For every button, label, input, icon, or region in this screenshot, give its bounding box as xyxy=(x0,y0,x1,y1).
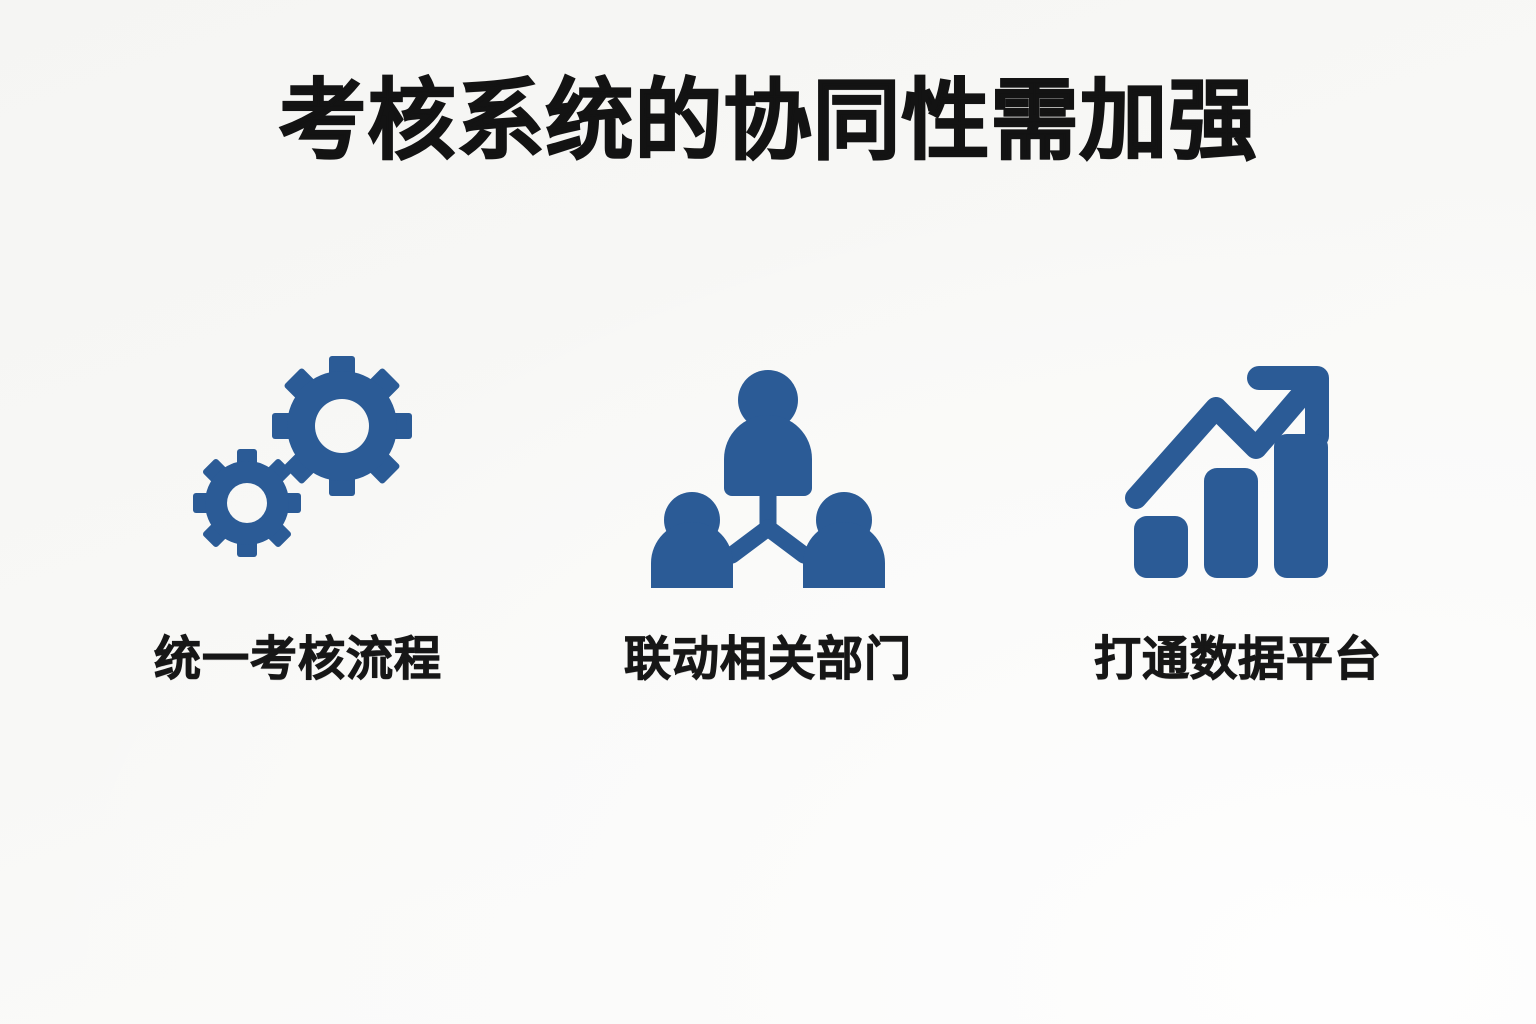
feature-label-department-linkage: 联动相关部门 xyxy=(624,634,912,686)
bar-2 xyxy=(1204,468,1258,578)
people-network-icon xyxy=(648,348,888,588)
slide-canvas: 考核系统的协同性需加强 xyxy=(0,0,1536,1024)
title-container: 考核系统的协同性需加强 xyxy=(0,72,1536,171)
feature-column-unified-process: 统一考核流程 xyxy=(63,348,533,686)
gears-icon xyxy=(184,348,424,588)
growth-bar-chart-icon xyxy=(1120,348,1360,588)
feature-column-data-platform: 打通数据平台 xyxy=(1003,348,1473,686)
feature-label-unified-process: 统一考核流程 xyxy=(154,634,442,686)
feature-columns: 统一考核流程 xyxy=(0,348,1536,686)
bar-1 xyxy=(1134,516,1188,578)
page-title: 考核系统的协同性需加强 xyxy=(278,72,1257,171)
bar-3 xyxy=(1274,434,1328,578)
feature-column-department-linkage: 联动相关部门 xyxy=(533,348,1003,686)
feature-label-data-platform: 打通数据平台 xyxy=(1094,634,1382,686)
